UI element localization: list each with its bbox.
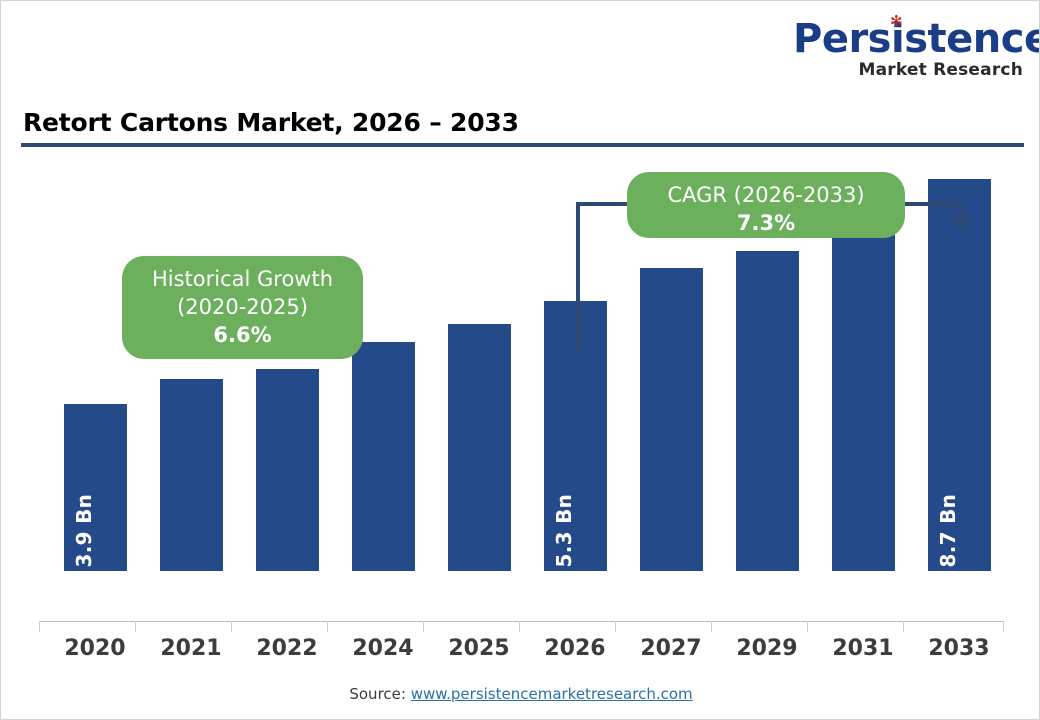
x-axis-label-2020: 2020 — [47, 636, 143, 661]
source-prefix-label: Source: — [349, 685, 410, 703]
x-axis-tick — [615, 621, 616, 632]
bar-label-wrap-2029 — [736, 251, 799, 571]
x-axis-tick — [423, 621, 424, 632]
source-line: Source: www.persistencemarketresearch.co… — [1, 685, 1040, 703]
x-axis-tick — [39, 621, 40, 632]
bar-label-wrap-2020: US$ 3.9 Bn — [64, 404, 127, 571]
logo-name-text: Persistence — [793, 16, 1040, 62]
x-axis-label-2024: 2024 — [335, 636, 431, 661]
bar-2031 — [832, 214, 895, 571]
x-axis-label-2025: 2025 — [431, 636, 527, 661]
callout-cagr-value: 7.3% — [627, 210, 905, 238]
x-axis-label-2029: 2029 — [719, 636, 815, 661]
logo-tagline: Market Research — [793, 62, 1023, 79]
bar-label-wrap-2027 — [640, 268, 703, 571]
callout-historical-line2: (2020-2025) — [122, 294, 363, 322]
bar-2022 — [256, 369, 319, 571]
bar-value-label-2026: US$ 5.3 Bn — [552, 494, 576, 620]
x-axis-tick — [135, 621, 136, 632]
callout-cagr: CAGR (2026-2033) 7.3% — [627, 172, 905, 238]
x-axis-line — [39, 621, 1004, 622]
bar-label-wrap-2022 — [256, 369, 319, 571]
x-axis-label-2031: 2031 — [815, 636, 911, 661]
x-axis-label-2027: 2027 — [623, 636, 719, 661]
bar-label-wrap-2031 — [832, 214, 895, 571]
x-axis-tick — [519, 621, 520, 632]
page-title: Retort Cartons Market, 2026 – 2033 — [23, 108, 519, 137]
bar-2024 — [352, 342, 415, 571]
bar-label-wrap-2033: US$ 8.7 Bn — [928, 179, 991, 571]
bar-2033: US$ 8.7 Bn — [928, 179, 991, 571]
bar-value-label-2020: US$ 3.9 Bn — [72, 494, 96, 620]
cagr-connector-vertical-left — [576, 202, 580, 352]
cagr-connector-horizontal-right — [899, 202, 963, 206]
bar-2020: US$ 3.9 Bn — [64, 404, 127, 571]
x-axis-tick — [327, 621, 328, 632]
x-axis-tick — [1003, 621, 1004, 632]
chart-infographic: Persistence ✻ Market Research Retort Car… — [0, 0, 1040, 720]
bar-2021 — [160, 379, 223, 571]
x-axis-label-2022: 2022 — [239, 636, 335, 661]
logo-wordmark: Persistence ✻ — [793, 19, 1040, 59]
callout-historical-value: 6.6% — [122, 322, 363, 350]
x-axis-label-2033: 2033 — [911, 636, 1007, 661]
x-axis-tick — [903, 621, 904, 632]
callout-cagr-line1: CAGR (2026-2033) — [627, 182, 905, 210]
x-axis-label-2021: 2021 — [143, 636, 239, 661]
persistence-market-research-logo: Persistence ✻ Market Research — [793, 19, 1023, 79]
bar-value-label-2033: US$ 8.7 Bn — [936, 494, 960, 620]
logo-star-icon: ✻ — [890, 16, 901, 27]
bar-label-wrap-2021 — [160, 379, 223, 571]
title-underline-rule — [21, 143, 1024, 147]
x-axis-tick — [231, 621, 232, 632]
callout-historical-line1: Historical Growth — [122, 266, 363, 294]
bar-2029 — [736, 251, 799, 571]
x-axis-tick — [807, 621, 808, 632]
bar-label-wrap-2025 — [448, 324, 511, 571]
x-axis-tick — [711, 621, 712, 632]
cagr-arrow-head-icon — [951, 218, 971, 232]
callout-historical-growth: Historical Growth (2020-2025) 6.6% — [122, 256, 363, 359]
x-axis-label-2026: 2026 — [527, 636, 623, 661]
bar-2025 — [448, 324, 511, 571]
bar-2027 — [640, 268, 703, 571]
bar-label-wrap-2024 — [352, 342, 415, 571]
source-link[interactable]: www.persistencemarketresearch.com — [411, 685, 693, 703]
